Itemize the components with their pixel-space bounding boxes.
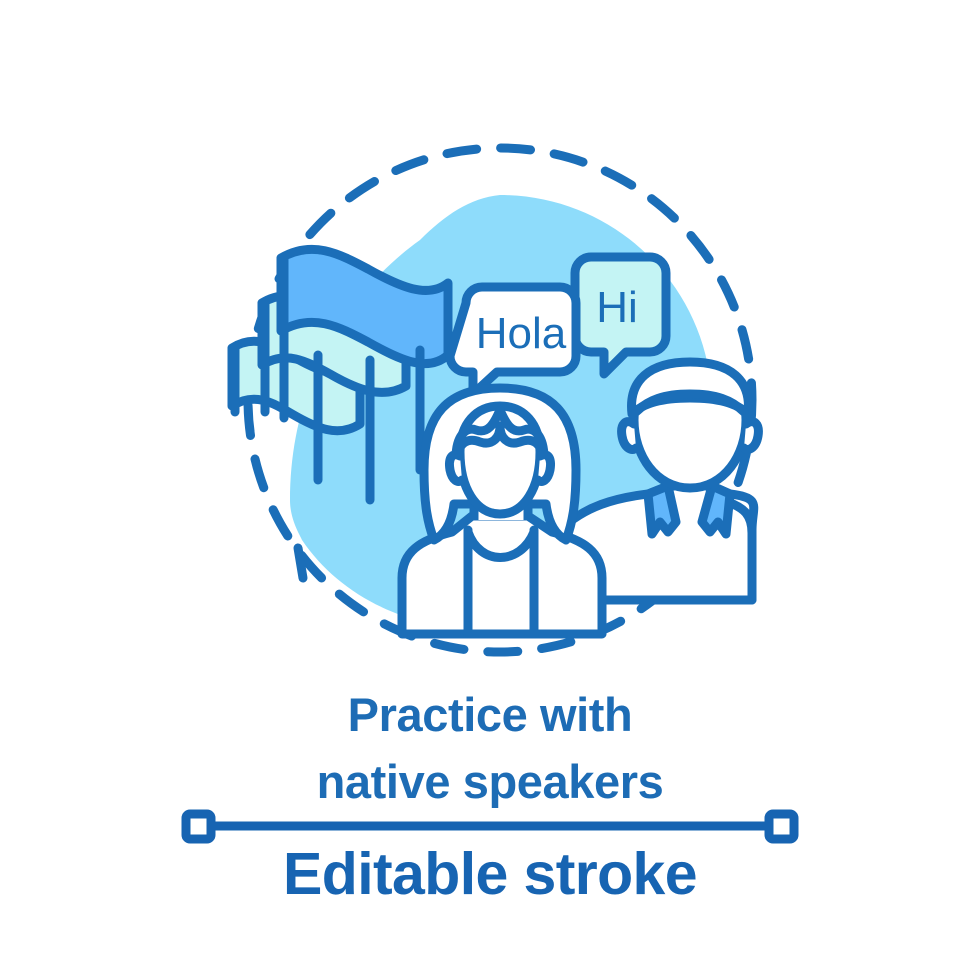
icon-canvas: Hi Hola — [0, 0, 980, 980]
icon-title: Practice with native speakers — [0, 682, 980, 815]
speech-bubble-hi-text: Hi — [596, 283, 638, 332]
flag-pole-tick — [298, 548, 303, 578]
stroke-bar-left-handle[interactable] — [186, 814, 211, 839]
person-woman — [402, 388, 602, 634]
editable-stroke-label: Editable stroke — [0, 840, 980, 908]
editable-stroke-label-block: Editable stroke — [0, 840, 980, 908]
icon-title-line-1: Practice with — [0, 682, 980, 749]
stroke-bar-right-handle[interactable] — [769, 814, 794, 839]
speech-bubble-hola-text: Hola — [476, 309, 567, 358]
